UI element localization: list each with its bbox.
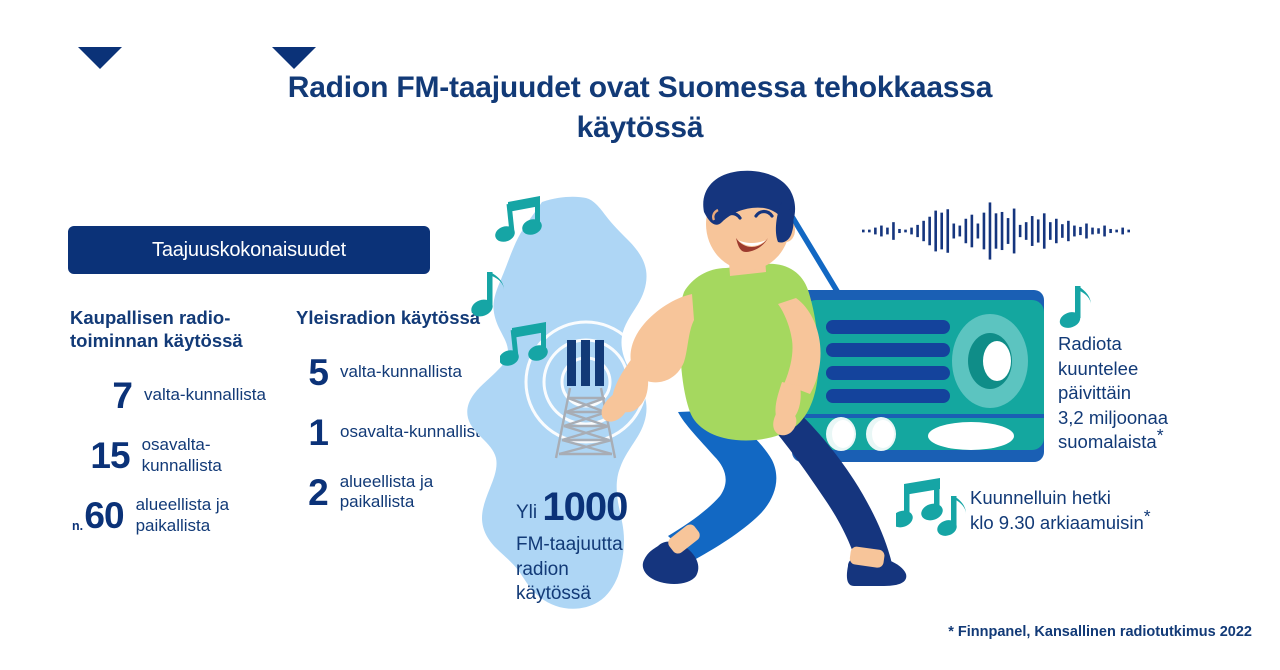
source-footnote: * Finnpanel, Kansallinen radiotutkimus 2… <box>700 624 1252 640</box>
banner-tail-left-icon <box>78 47 122 69</box>
row-number-box: 5 <box>296 354 340 391</box>
row-number: 1 <box>308 412 328 453</box>
row-number: 15 <box>90 435 129 476</box>
waveform-bar <box>1121 228 1124 235</box>
row-number: 7 <box>112 375 132 416</box>
row-number: 2 <box>308 472 328 513</box>
waveform-bar <box>1127 230 1130 233</box>
waveform-bar <box>1097 228 1100 233</box>
row-number-box: 2 <box>296 474 340 511</box>
row-label: alueellista ja paikallista <box>136 495 285 536</box>
infographic-canvas: Radion FM-taajuudet ovat Suomessa tehokk… <box>0 0 1280 670</box>
row-label: osavalta-kunnallista <box>142 435 285 476</box>
highlight-daily-listeners: Radiotakuunteleepäivittäin3,2 miljoonaas… <box>1058 332 1258 455</box>
column-heading: Kaupallisen radio-toiminnan käytössä <box>70 306 285 353</box>
radio-illustration <box>792 290 1044 462</box>
footnote-marker: * <box>1157 425 1164 445</box>
table-row: 7 valta-kunnallista <box>70 371 285 421</box>
person-left-hand <box>602 394 628 422</box>
frequency-totals-banner: Taajuuskokonaisuudet <box>68 226 430 274</box>
banner-label: Taajuuskokonaisuudet <box>68 226 430 274</box>
waveform-bar <box>1103 226 1106 237</box>
row-number: 60 <box>84 495 123 536</box>
row-number: 5 <box>308 352 328 393</box>
map-stat-prefix: Yli <box>516 502 537 523</box>
waveform-bar <box>1115 230 1118 233</box>
row-number-box: 1 <box>296 414 340 451</box>
table-row: 15 osavalta-kunnallista <box>70 431 285 481</box>
highlight-peak-time: Kuunnelluin hetkiklo 9.30 arkiaamuisin* <box>970 486 1220 535</box>
waveform-bar <box>1085 224 1088 239</box>
highlight-text: Kuunnelluin hetkiklo 9.30 arkiaamuisin <box>970 487 1144 533</box>
waveform-bar <box>1091 228 1094 235</box>
table-row: n. 60 alueellista ja paikallista <box>70 491 285 541</box>
waveform-bar <box>1073 226 1076 237</box>
row-label: valta-kunnallista <box>144 385 266 405</box>
music-notes-icon <box>494 194 546 246</box>
waveform-bar <box>1067 221 1070 241</box>
waveform-bar <box>1079 227 1082 235</box>
row-approx-prefix: n. <box>72 519 83 533</box>
column-commercial-radio: Kaupallisen radio-toiminnan käytössä 7 v… <box>70 306 285 551</box>
page-title: Radion FM-taajuudet ovat Suomessa tehokk… <box>240 68 1040 147</box>
highlight-text: Radiotakuunteleepäivittäin3,2 miljoonaas… <box>1058 333 1168 452</box>
row-number-box: 15 <box>70 437 142 474</box>
row-number-box: 7 <box>70 377 144 414</box>
music-note-icon <box>468 268 512 320</box>
waveform-bar <box>1109 229 1112 233</box>
music-notes-icon <box>500 322 554 370</box>
banner-tail-right-icon <box>272 47 316 69</box>
row-number-box: n. 60 <box>70 497 136 534</box>
footnote-marker: * <box>1144 505 1151 525</box>
